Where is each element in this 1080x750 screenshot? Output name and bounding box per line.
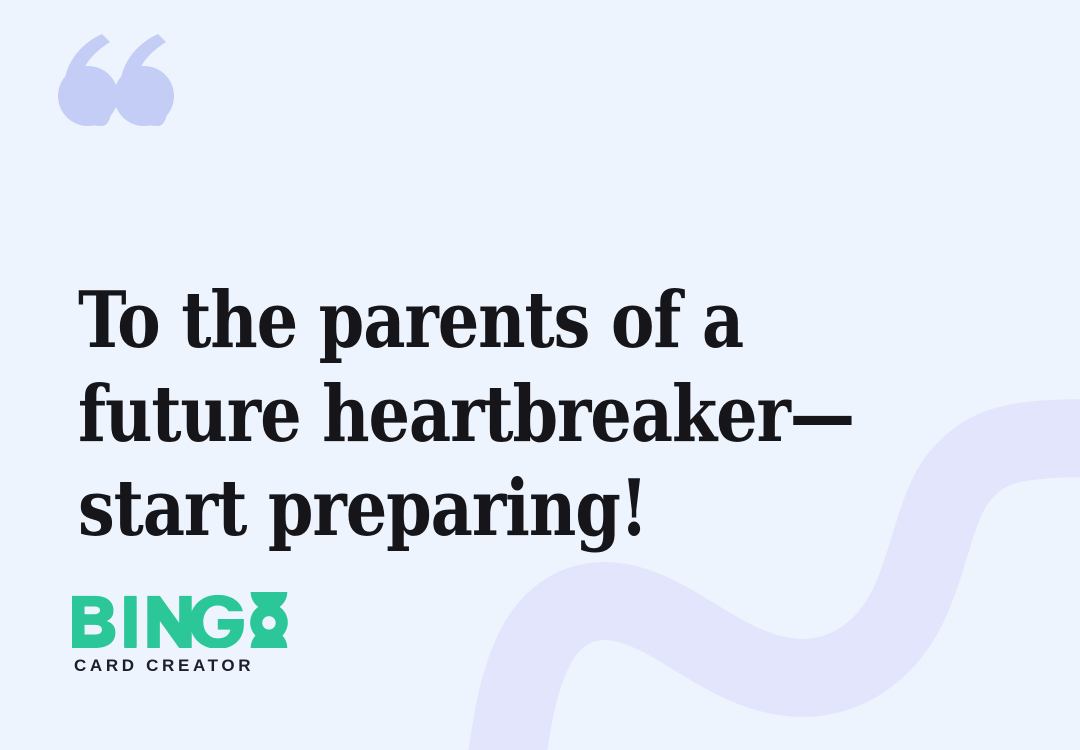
double-quote-open-icon <box>58 34 174 126</box>
headline-line-3: start preparing! <box>78 462 896 556</box>
headline-line-2: future heartbreaker— <box>78 368 896 462</box>
bingo-ball-o-icon <box>250 592 288 648</box>
bingo-wordmark-icon <box>72 592 296 648</box>
quote-headline: To the parents of a future heartbreaker—… <box>78 274 958 556</box>
brand-logo: CARD CREATOR <box>72 592 302 674</box>
quote-card: To the parents of a future heartbreaker—… <box>0 0 1080 750</box>
brand-tagline: CARD CREATOR <box>74 657 302 674</box>
headline-line-1: To the parents of a <box>78 274 896 368</box>
